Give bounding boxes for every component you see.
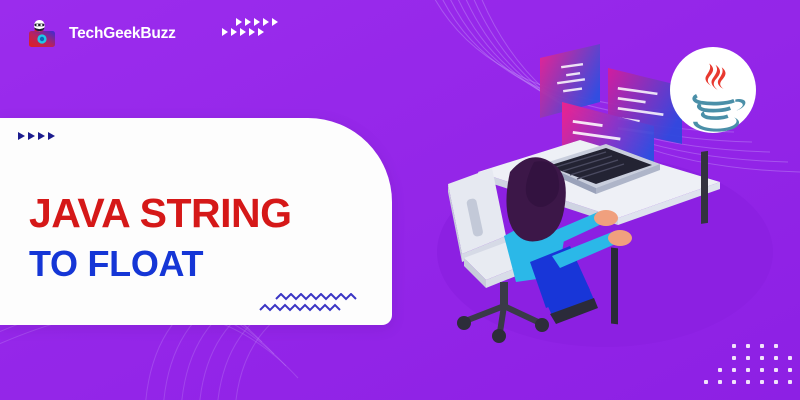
chevron-right-icon <box>240 28 246 36</box>
brand[interactable]: TechGeekBuzz <box>26 17 176 51</box>
isometric-developer-at-desk <box>430 40 800 370</box>
chevron-right-icon <box>18 132 25 140</box>
java-logo <box>670 47 756 133</box>
brand-name: TechGeekBuzz <box>69 25 176 43</box>
chevron-right-icon <box>272 18 278 26</box>
desk-leg-front <box>611 247 618 324</box>
chevron-right-icon <box>38 132 45 140</box>
chevron-right-icon <box>245 18 251 26</box>
person-hand-right <box>608 230 632 246</box>
page-title: JAVA STRING <box>29 193 292 234</box>
card-chevron-decoration <box>18 132 55 140</box>
chevron-right-icon <box>254 18 260 26</box>
chevron-right-icon <box>28 132 35 140</box>
chevron-right-icon <box>231 28 237 36</box>
dot-grid-icon <box>704 344 792 392</box>
chevron-right-icon <box>48 132 55 140</box>
chevron-right-icon <box>263 18 269 26</box>
person-hand-left <box>594 210 618 226</box>
desk-leg-right <box>701 151 708 224</box>
chevron-right-icon <box>249 28 255 36</box>
title-card: JAVA STRING TO FLOAT <box>0 118 392 325</box>
page-subtitle: TO FLOAT <box>29 246 203 282</box>
techgeekbuzz-camera-logo <box>26 17 60 51</box>
chevron-right-icon <box>222 28 228 36</box>
top-chevron-decoration <box>236 18 278 36</box>
banner: TechGeekBuzz JAVA STRING TO FLOAT <box>0 0 800 400</box>
zigzag-wave-icon <box>258 293 368 315</box>
chevron-right-icon <box>236 18 242 26</box>
chevron-right-icon <box>258 28 264 36</box>
